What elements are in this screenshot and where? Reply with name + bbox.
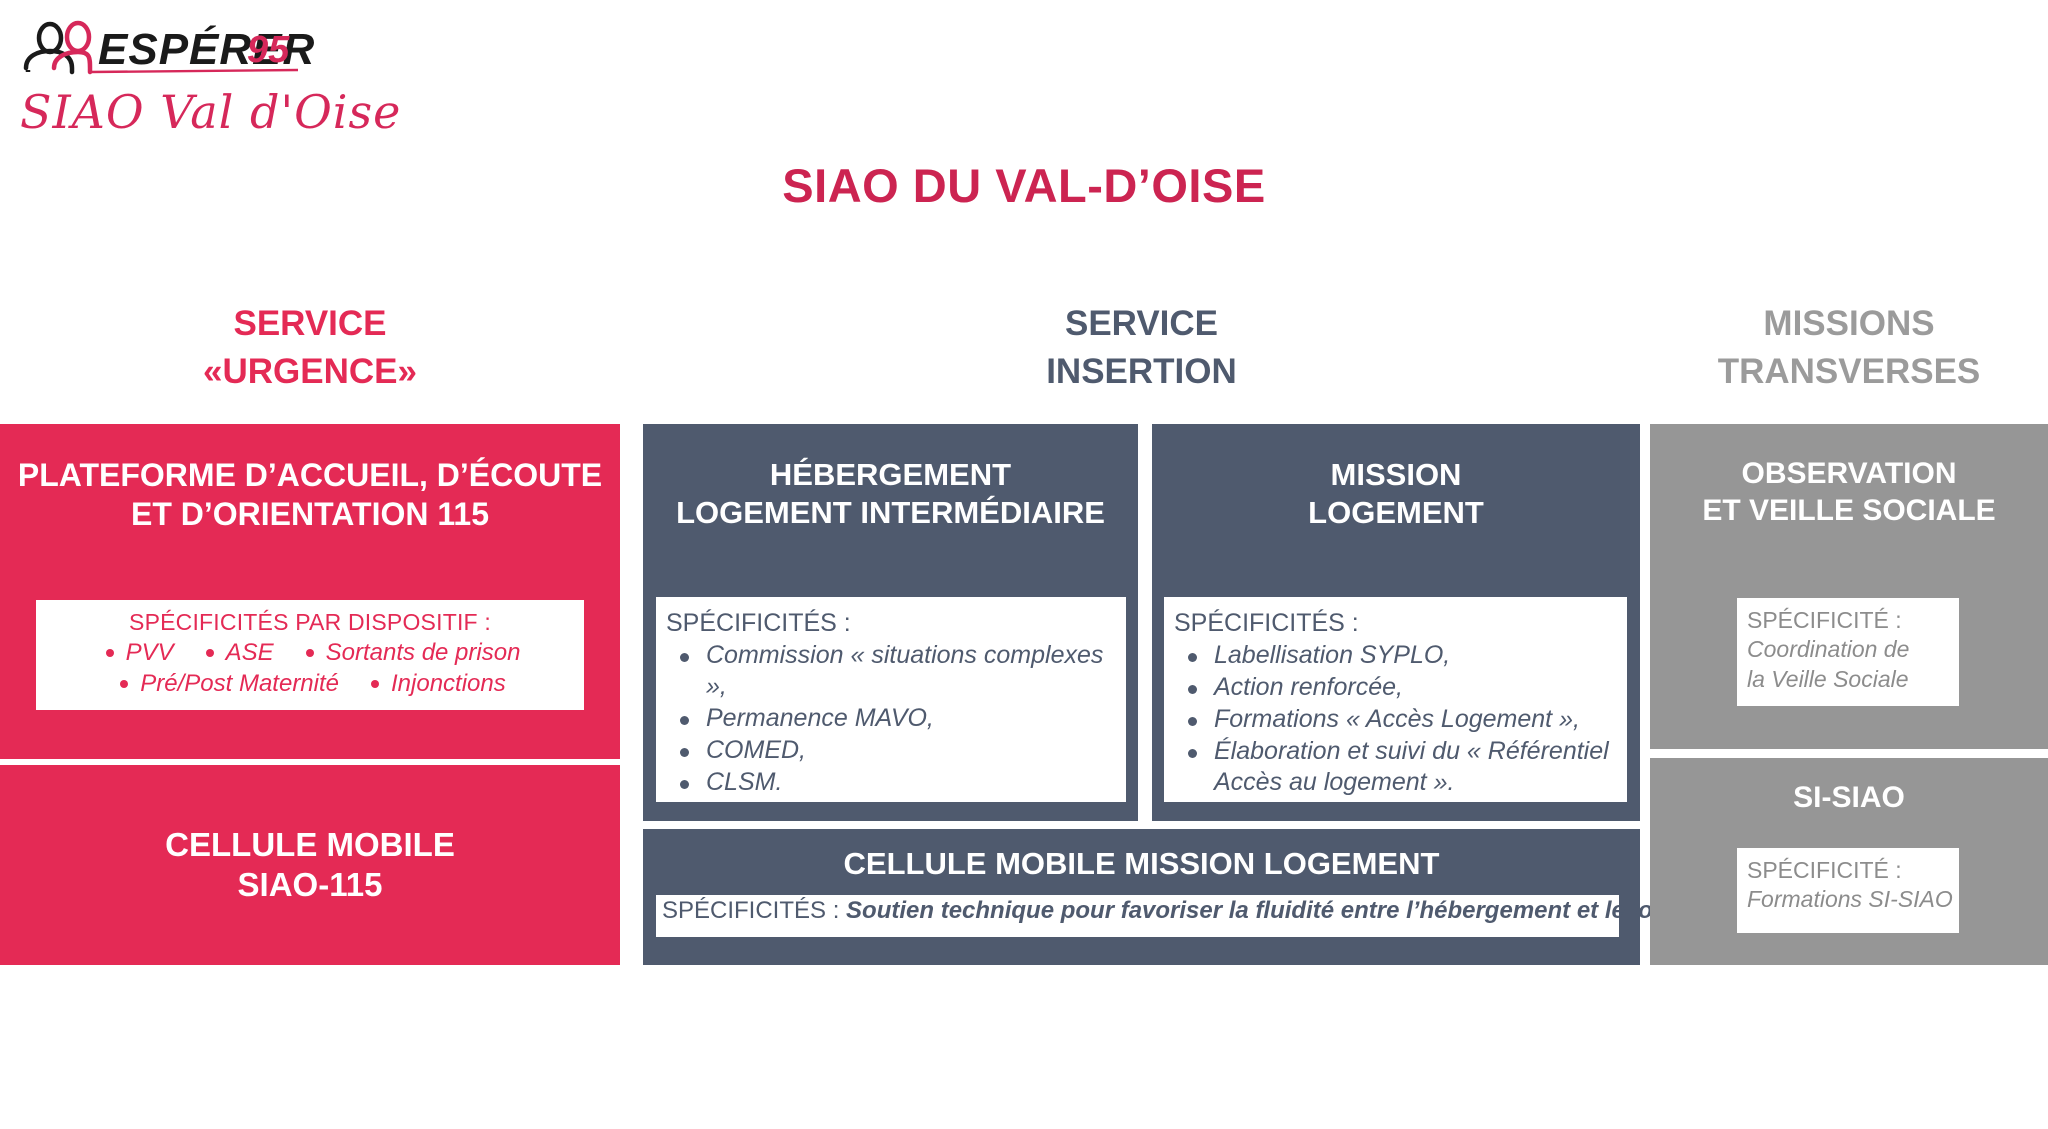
card-hebergement-title-line2: LOGEMENT INTERMÉDIAIRE: [643, 494, 1138, 532]
spec-observation-line1: Coordination de: [1747, 635, 1959, 664]
spec-plateforme-item-maternite: Pré/Post Maternité: [114, 670, 339, 698]
card-observation-title: OBSERVATION ET VEILLE SOCIALE: [1650, 456, 2048, 529]
logo-org-number: 95: [247, 29, 290, 71]
card-plateforme-title-line1: PLATEFORME D’ACCUEIL, D’ÉCOUTE: [0, 456, 620, 495]
column-header-urgence-line1: SERVICE: [0, 300, 620, 348]
spec-hebergement-list: Commission « situations complexes », Per…: [666, 640, 1118, 798]
column-header-urgence-line2: «URGENCE»: [0, 348, 620, 396]
spec-observation-heading: SPÉCIFICITÉ :: [1747, 606, 1959, 635]
card-cellule-115-title-line2: SIAO-115: [165, 865, 455, 905]
card-cellule-115-title: CELLULE MOBILE SIAO-115: [165, 825, 455, 906]
spec-cellule-mission-value: Soutien technique pour favoriser la flui…: [846, 897, 1738, 924]
logo-sub-brand: SIAO Val d'Oise: [20, 85, 401, 139]
card-mission-logement-title-line1: MISSION: [1152, 456, 1640, 494]
card-hebergement-title-line1: HÉBERGEMENT: [643, 456, 1138, 494]
card-observation-title-line2: ET VEILLE SOCIALE: [1650, 493, 2048, 530]
spec-mission-list: Labellisation SYPLO, Action renforcée, F…: [1174, 640, 1619, 798]
card-plateforme-title-line2: ET D’ORIENTATION 115: [0, 495, 620, 534]
list-item: COMED,: [666, 735, 1118, 766]
card-cellule-mission-title: CELLULE MOBILE MISSION LOGEMENT: [643, 845, 1640, 883]
column-header-urgence: SERVICE «URGENCE»: [0, 300, 620, 395]
spec-hebergement-heading: SPÉCIFICITÉS :: [666, 609, 1118, 638]
list-item: Commission « situations complexes »,: [666, 640, 1118, 702]
spec-plateforme-item-pvv: PVV: [100, 639, 174, 667]
list-item: Élaboration et suivi du « Référentiel Ac…: [1174, 736, 1619, 798]
spec-box-observation: SPÉCIFICITÉ : Coordination de la Veille …: [1737, 598, 1959, 706]
spec-mission-heading: SPÉCIFICITÉS :: [1174, 609, 1619, 638]
spec-box-cellule-mission: SPÉCIFICITÉS : Soutien technique pour fa…: [656, 895, 1619, 937]
card-mission-logement-title-line2: LOGEMENT: [1152, 494, 1640, 532]
column-header-transverses-line1: MISSIONS: [1650, 300, 2048, 348]
logo-artwork: ESPÉRER 95 SIAO Val d'Oise: [10, 6, 410, 166]
card-cellule-mobile-siao-115: CELLULE MOBILE SIAO-115: [0, 765, 620, 965]
spec-plateforme-heading: SPÉCIFICITÉS PAR DISPOSITIF :: [36, 609, 584, 636]
column-header-insertion: SERVICE INSERTION: [643, 300, 1640, 395]
page-title: SIAO DU VAL-D’OISE: [0, 158, 2048, 213]
spec-box-si-siao: SPÉCIFICITÉ : Formations SI-SIAO: [1737, 848, 1959, 933]
column-header-transverses: MISSIONS TRANSVERSES: [1650, 300, 2048, 395]
card-observation-title-line1: OBSERVATION: [1650, 456, 2048, 493]
column-header-transverses-line2: TRANSVERSES: [1650, 348, 2048, 396]
card-mission-logement-title: MISSION LOGEMENT: [1152, 456, 1640, 532]
card-cellule-115-title-line1: CELLULE MOBILE: [165, 825, 455, 865]
column-header-insertion-line2: INSERTION: [643, 348, 1640, 396]
spec-box-plateforme: SPÉCIFICITÉS PAR DISPOSITIF : PVV ASE So…: [36, 600, 584, 710]
spec-plateforme-item-injonctions: Injonctions: [365, 670, 506, 698]
card-plateforme-title: PLATEFORME D’ACCUEIL, D’ÉCOUTE ET D’ORIE…: [0, 456, 620, 534]
spec-cellule-mission-heading: SPÉCIFICITÉS :: [662, 897, 846, 924]
list-item: Labellisation SYPLO,: [1174, 640, 1619, 671]
spec-box-hebergement: SPÉCIFICITÉS : Commission « situations c…: [656, 597, 1126, 802]
logo-esperer95-siao: ESPÉRER 95 SIAO Val d'Oise: [10, 6, 410, 166]
list-item: Action renforcée,: [1174, 672, 1619, 703]
spec-plateforme-row-1: PVV ASE Sortants de prison: [36, 639, 584, 667]
spec-plateforme-item-sortants-prison: Sortants de prison: [300, 639, 521, 667]
spec-observation-line2: la Veille Sociale: [1747, 665, 1959, 694]
list-item: Formations « Accès Logement »,: [1174, 704, 1619, 735]
list-item: Permanence MAVO,: [666, 703, 1118, 734]
card-hebergement-title: HÉBERGEMENT LOGEMENT INTERMÉDIAIRE: [643, 456, 1138, 532]
list-item: CLSM.: [666, 767, 1118, 798]
spec-plateforme-row-2: Pré/Post Maternité Injonctions: [36, 670, 584, 698]
card-si-siao-title: SI-SIAO: [1650, 780, 2048, 817]
column-header-insertion-line1: SERVICE: [643, 300, 1640, 348]
spec-box-mission-logement: SPÉCIFICITÉS : Labellisation SYPLO, Acti…: [1164, 597, 1627, 802]
spec-si-siao-line1: Formations SI-SIAO: [1747, 885, 1959, 914]
spec-si-siao-heading: SPÉCIFICITÉ :: [1747, 856, 1959, 885]
spec-plateforme-item-ase: ASE: [200, 639, 274, 667]
